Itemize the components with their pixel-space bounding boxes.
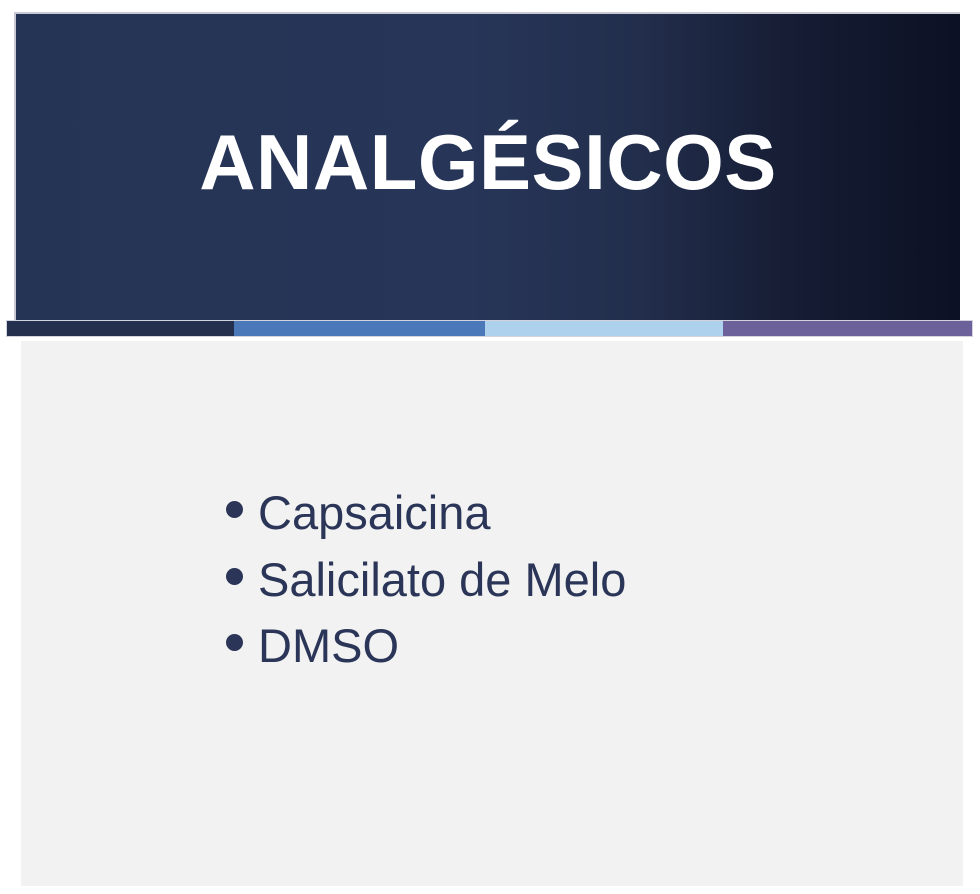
presentation-slide: ANALGÉSICOS Capsaicina Salicilato de Mel… [0,0,980,894]
accent-segment-purple [723,321,972,336]
list-item-label: Capsaicina [258,480,491,547]
slide-content-panel: Capsaicina Salicilato de Melo DMSO [21,341,963,886]
list-item: DMSO [226,613,626,680]
bullet-list: Capsaicina Salicilato de Melo DMSO [226,480,626,680]
list-item: Capsaicina [226,480,626,547]
slide-title: ANALGÉSICOS [199,123,777,211]
list-item: Salicilato de Melo [226,547,626,614]
accent-segment-light-blue [485,321,723,336]
accent-color-bar [6,320,973,337]
bullet-dot-icon [226,568,243,585]
bullet-dot-icon [226,501,243,518]
accent-segment-dark-navy [7,321,234,336]
accent-segment-medium-blue [234,321,485,336]
list-item-label: Salicilato de Melo [258,547,626,614]
list-item-label: DMSO [258,613,399,680]
bullet-dot-icon [226,634,243,651]
slide-title-banner: ANALGÉSICOS [14,12,960,320]
